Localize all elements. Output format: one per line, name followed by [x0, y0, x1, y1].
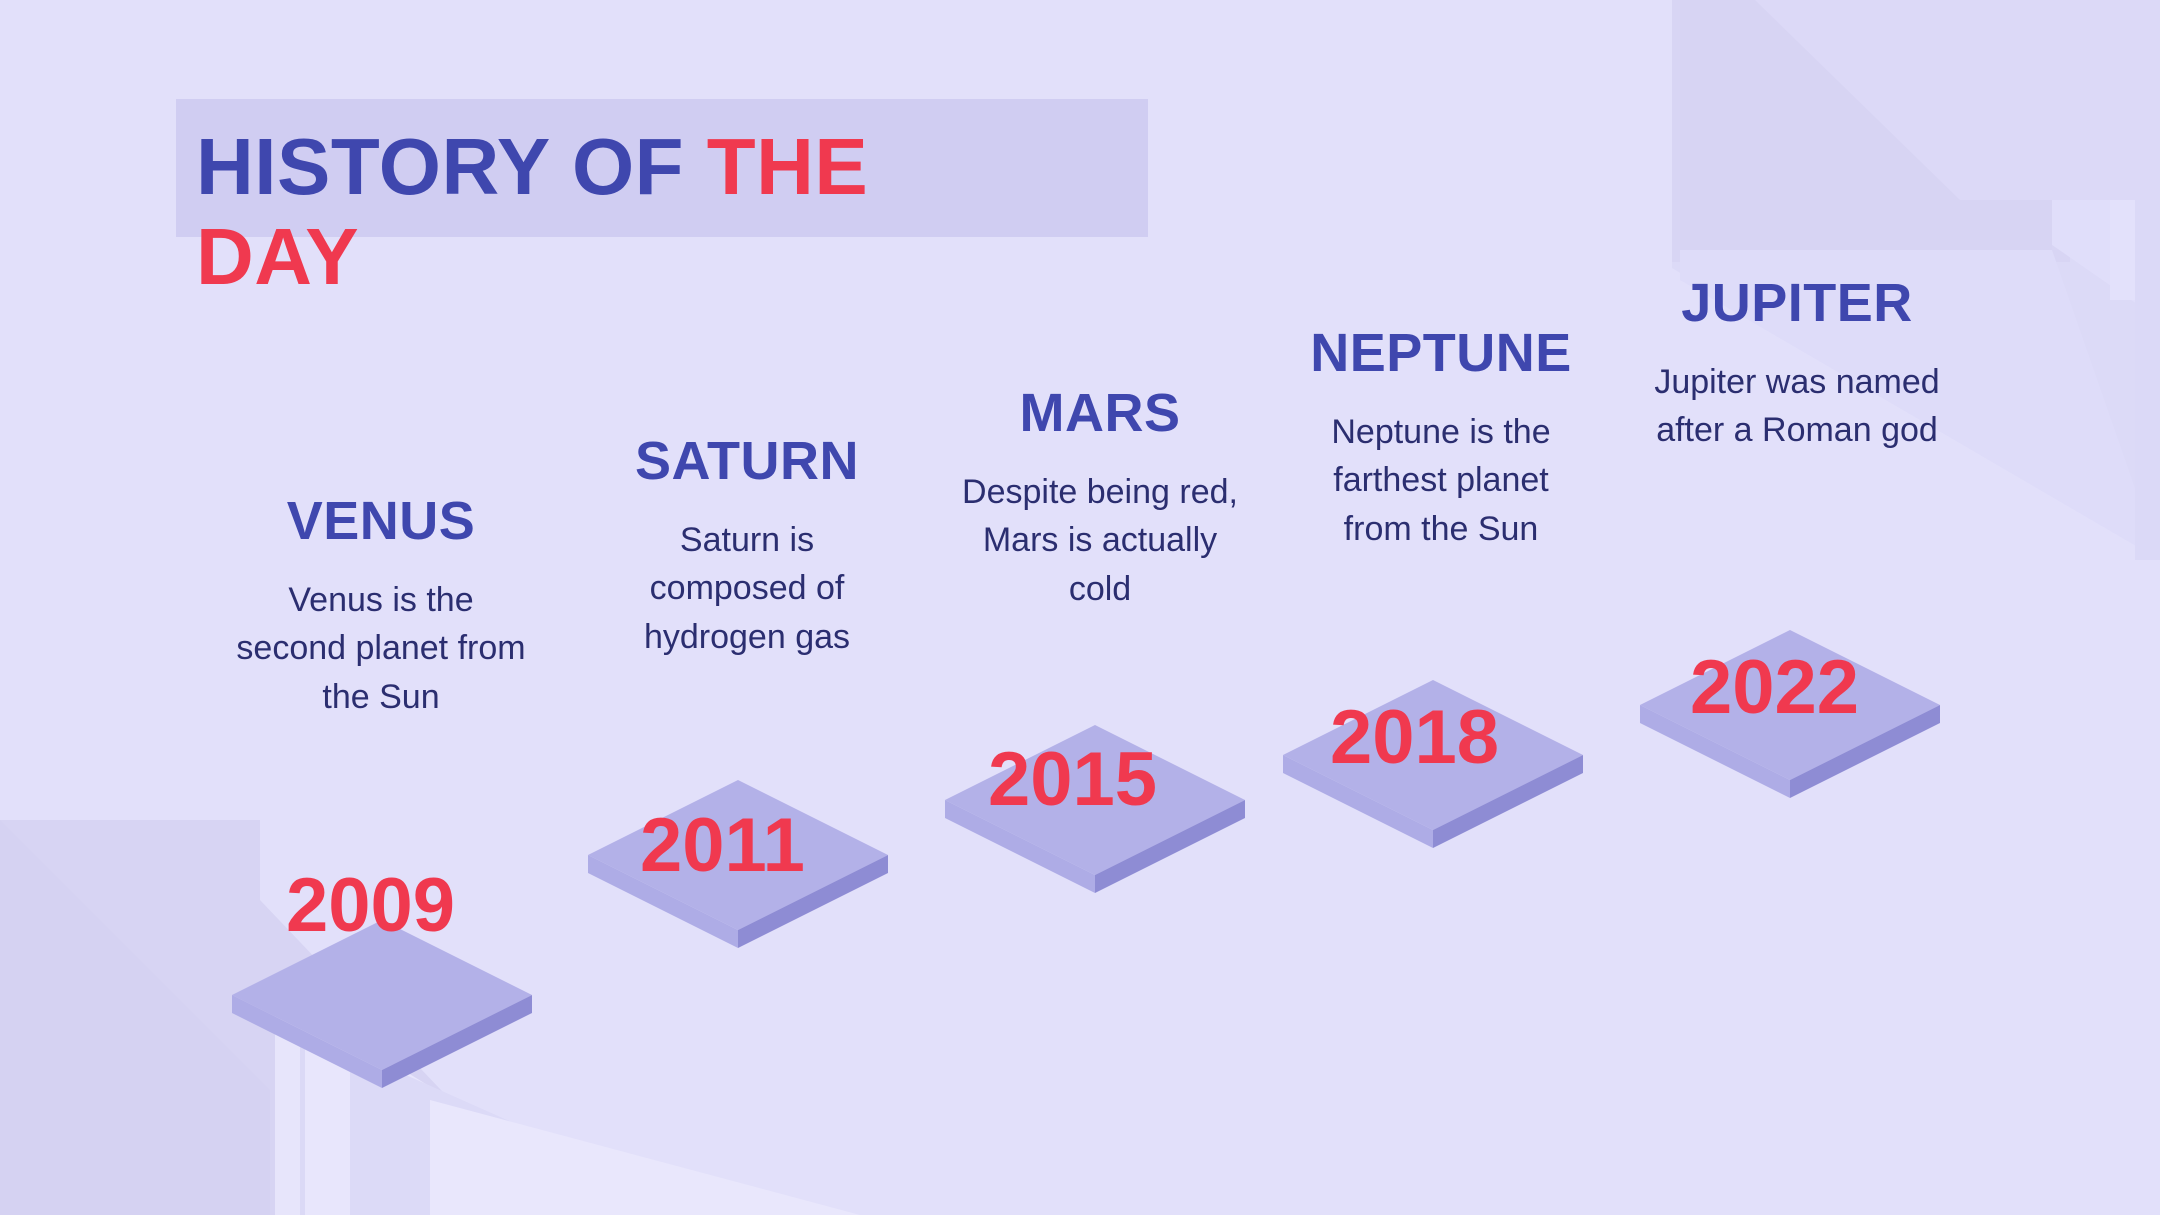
- bg-shape-tr-8: [2135, 0, 2160, 560]
- bg-shape-tr-1: [1672, 0, 2102, 265]
- year-label-2011: 2011: [640, 802, 805, 889]
- bg-shape-tr-9: [1755, 0, 2160, 200]
- title-line-2: DAY: [196, 212, 1196, 302]
- bg-shape-bl-3: [0, 820, 270, 1215]
- infographic-slide: HISTORY OF THE DAY: [0, 0, 2160, 1215]
- bg-shape-tr-7: [2110, 0, 2160, 300]
- step-description-saturn: Saturn is composed of hydrogen gas: [602, 516, 892, 661]
- title-line-1: HISTORY OF THE: [196, 122, 1196, 212]
- year-label-2009: 2009: [286, 862, 455, 949]
- title-part-history-of: HISTORY OF: [196, 122, 707, 211]
- timeline-step-mars: MARS Despite being red, Mars is actually…: [955, 382, 1245, 613]
- step-heading-mars: MARS: [955, 382, 1245, 444]
- step-description-venus: Venus is the second planet from the Sun: [236, 576, 526, 721]
- step-heading-neptune: NEPTUNE: [1296, 322, 1586, 384]
- year-label-2022: 2022: [1690, 644, 1859, 731]
- year-label-2015: 2015: [988, 736, 1157, 823]
- timeline-step-venus: VENUS Venus is the second planet from th…: [236, 490, 526, 721]
- bg-shape-tr-3: [1672, 0, 2070, 262]
- page-title: HISTORY OF THE DAY: [196, 122, 1196, 301]
- step-heading-venus: VENUS: [236, 490, 526, 552]
- bg-shape-tr-5: [1680, 0, 2052, 250]
- bg-shape-bl-8: [430, 1100, 860, 1215]
- timeline-step-saturn: SATURN Saturn is composed of hydrogen ga…: [602, 430, 892, 661]
- step-description-mars: Despite being red, Mars is actually cold: [955, 468, 1245, 613]
- bg-shape-bl-1: [0, 965, 250, 1215]
- timeline-step-neptune: NEPTUNE Neptune is the farthest planet f…: [1296, 322, 1586, 553]
- step-description-neptune: Neptune is the farthest planet from the …: [1296, 408, 1586, 553]
- step-heading-saturn: SATURN: [602, 430, 892, 492]
- step-description-jupiter: Jupiter was named after a Roman god: [1652, 358, 1942, 455]
- timeline-step-jupiter: JUPITER Jupiter was named after a Roman …: [1652, 272, 1942, 455]
- year-label-2018: 2018: [1330, 694, 1499, 781]
- title-part-the: THE: [707, 122, 869, 211]
- step-heading-jupiter: JUPITER: [1652, 272, 1942, 334]
